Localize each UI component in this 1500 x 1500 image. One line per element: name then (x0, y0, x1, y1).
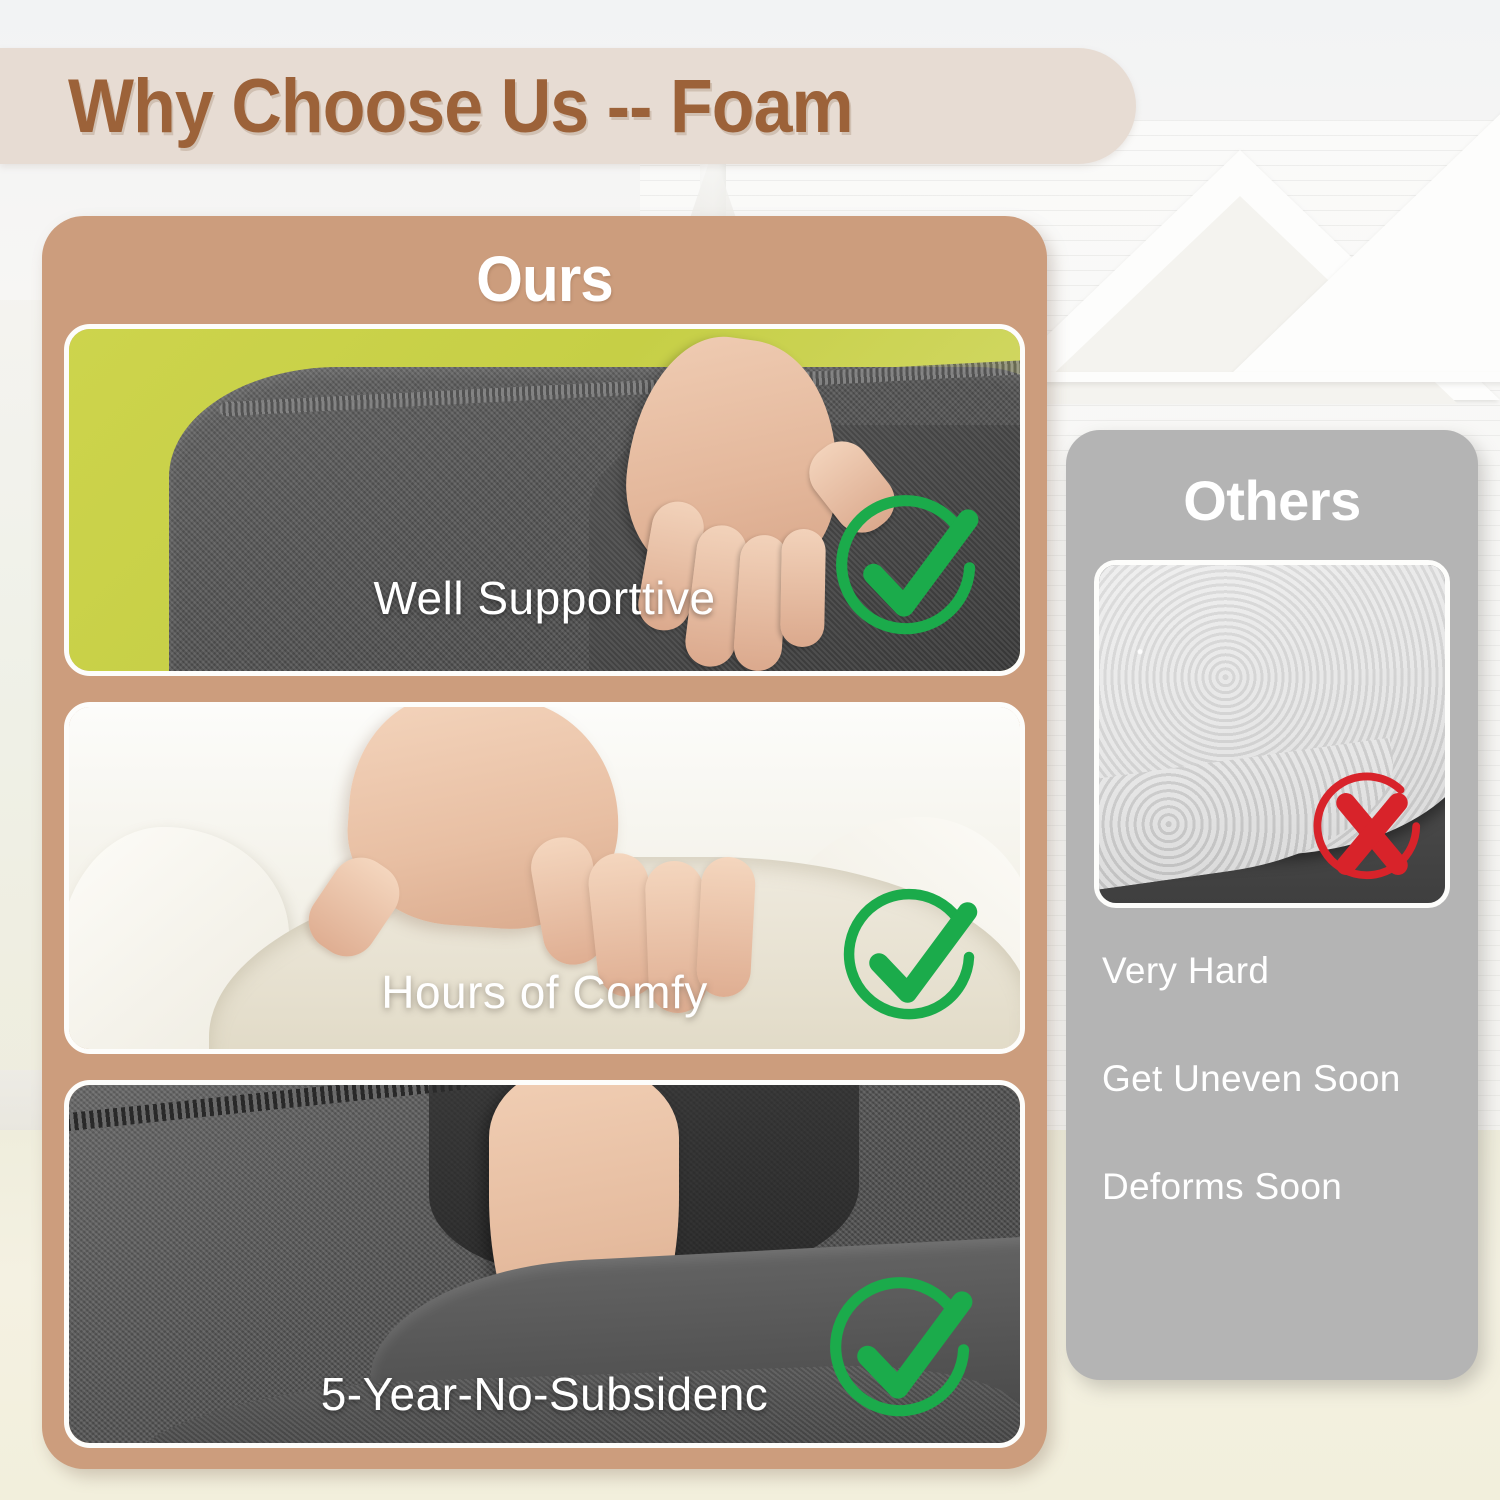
ours-feature-photo-2: Hours of Comfy (64, 702, 1025, 1054)
check-icon (826, 1273, 986, 1433)
list-item: Get Uneven Soon (1102, 1058, 1452, 1100)
others-panel-title: Others (1066, 468, 1478, 533)
others-panel: Others Very Hard Get Uneven Soon Deforms… (1066, 430, 1478, 1380)
check-icon (840, 885, 990, 1035)
zipper (64, 1080, 469, 1133)
background-gable-roof-2 (1230, 95, 1500, 375)
ours-panel-title: Ours (72, 242, 1017, 316)
title-banner: Why Choose Us -- Foam (0, 48, 1136, 164)
ours-panel: Ours Well Supporttive (42, 216, 1047, 1469)
others-drawback-list: Very Hard Get Uneven Soon Deforms Soon (1102, 950, 1452, 1274)
others-photo (1094, 560, 1450, 908)
ours-feature-photo-3: 5-Year-No-Subsidenc (64, 1080, 1025, 1448)
list-item: Very Hard (1102, 950, 1452, 992)
list-item: Deforms Soon (1102, 1166, 1452, 1208)
infographic-root: Why Choose Us -- Foam Ours Well Supportt… (0, 0, 1500, 1500)
page-title: Why Choose Us -- Foam (68, 63, 853, 150)
ours-feature-photo-1: Well Supporttive (64, 324, 1025, 676)
x-icon (1307, 769, 1437, 899)
check-icon (832, 491, 992, 651)
